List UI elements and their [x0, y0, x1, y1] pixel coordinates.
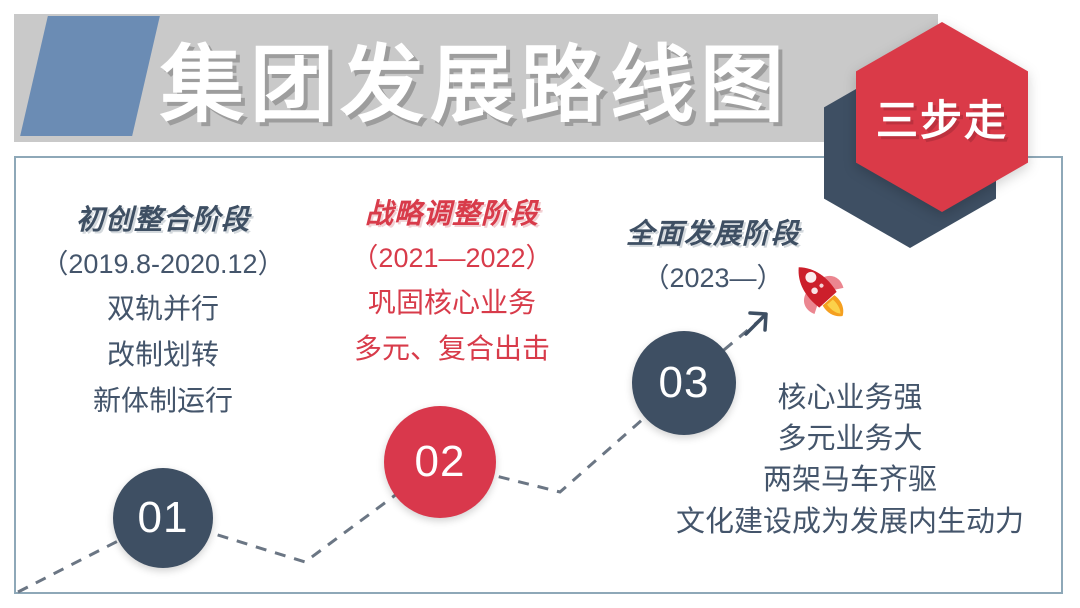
stage-3-line-4: 文化建设成为发展内生动力	[630, 502, 1070, 543]
stage-3-title: 全面发展阶段	[588, 212, 838, 252]
page-title: 集团发展路线图	[160, 14, 790, 142]
stage-1-number-circle[interactable]: 01	[113, 468, 213, 568]
stage-2-number: 02	[415, 437, 466, 487]
stage-2-line-2: 多元、复合出击	[318, 327, 586, 367]
stage-1-period: （2019.8-2020.12）	[18, 242, 308, 281]
stage-3-number-circle[interactable]: 03	[632, 331, 736, 435]
infographic-canvas: 集团发展路线图 三步走 初创整合阶段 （2019.8-2020.12） 双轨并行…	[0, 0, 1080, 608]
stage-1-line-3: 新体制运行	[18, 379, 308, 419]
stage-2-block: 战略调整阶段 （2021—2022） 巩固核心业务 多元、复合出击	[318, 192, 586, 367]
stage-3-number: 03	[659, 358, 710, 408]
stage-1-line-1: 双轨并行	[18, 287, 308, 327]
badge-label: 三步走	[876, 87, 1008, 148]
stage-3-line-3: 两架马车齐驱	[630, 460, 1070, 501]
rocket-icon	[776, 252, 862, 330]
stage-2-title: 战略调整阶段	[318, 192, 586, 232]
stage-1-number: 01	[138, 493, 189, 543]
stage-2-line-1: 巩固核心业务	[318, 281, 586, 321]
stage-2-number-circle[interactable]: 02	[384, 406, 496, 518]
stage-2-period: （2021—2022）	[318, 236, 586, 275]
three-step-badge: 三步走	[856, 22, 1028, 212]
stage-1-title: 初创整合阶段	[18, 198, 308, 238]
stage-1-block: 初创整合阶段 （2019.8-2020.12） 双轨并行 改制划转 新体制运行	[18, 198, 308, 419]
stage-1-line-2: 改制划转	[18, 333, 308, 373]
